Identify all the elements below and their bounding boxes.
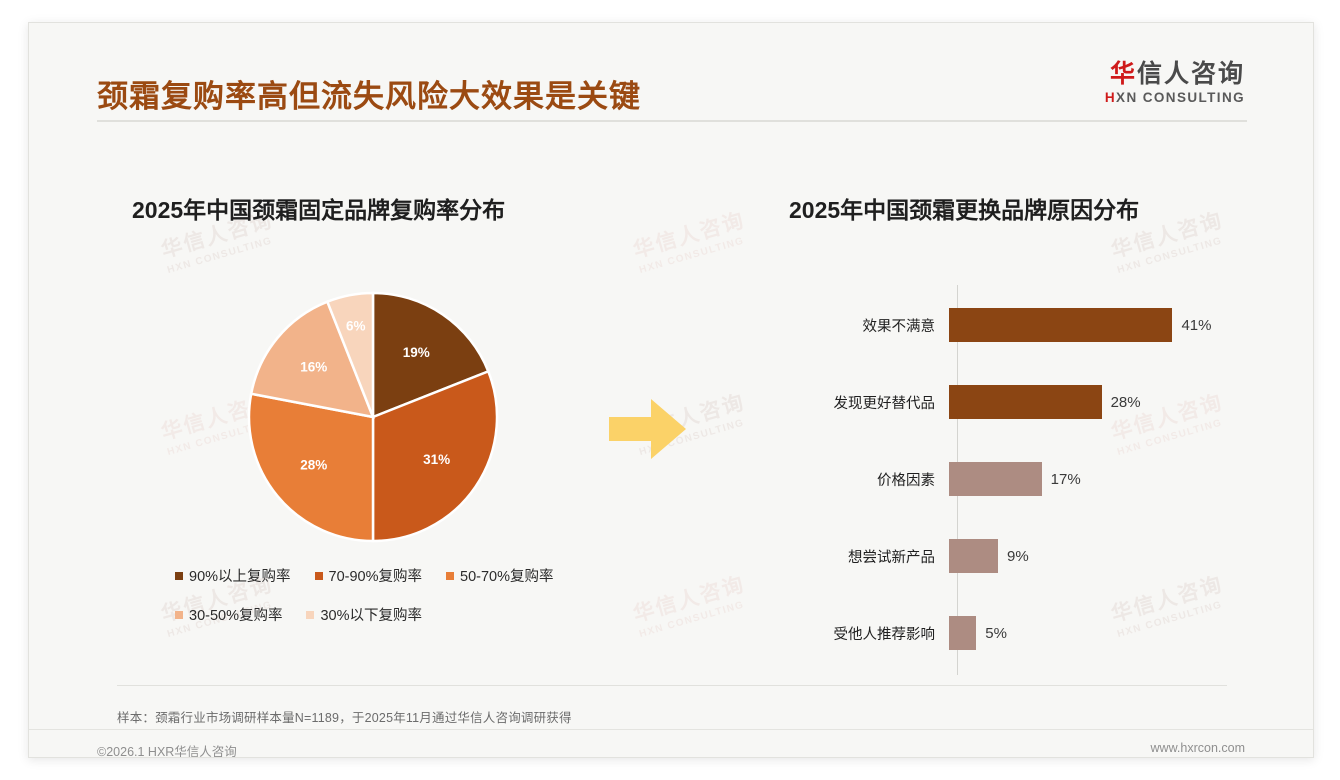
bar-value-label: 28% [1102, 394, 1141, 411]
logo-hua-char: 华 [1110, 60, 1137, 88]
logo-cn-rest: 信人咨询 [1137, 60, 1245, 88]
copyright-text: ©2026.1 HXR华信人咨询 [97, 741, 237, 758]
legend-label: 90%以上复购率 [189, 565, 291, 586]
bar-chart-title: 2025年中国颈霜更换品牌原因分布 [789, 191, 1139, 225]
legend-label: 30-50%复购率 [189, 604, 282, 625]
legend-item[interactable]: 70-90%复购率 [315, 565, 422, 586]
legend-item[interactable]: 90%以上复购率 [175, 565, 291, 586]
legend-label: 70-90%复购率 [329, 565, 422, 586]
bar-rect[interactable] [949, 616, 976, 650]
legend-swatch-icon [175, 611, 183, 619]
website-link[interactable]: www.hxrcon.com [1151, 741, 1245, 755]
bar-row: 发现更好替代品28% [809, 385, 1249, 419]
pie-slice-label: 6% [346, 318, 366, 333]
bar-rect[interactable] [949, 462, 1042, 496]
pie-chart-title: 2025年中国颈霜固定品牌复购率分布 [132, 191, 505, 225]
bar-category-label: 想尝试新产品 [809, 546, 949, 567]
footer-divider [29, 729, 1313, 730]
bar-category-label: 发现更好替代品 [809, 392, 949, 413]
legend-item[interactable]: 30%以下复购率 [306, 604, 422, 625]
source-note: 样本：颈霜行业市场调研样本量N=1189，于2025年11月通过华信人咨询调研获… [117, 707, 572, 726]
pie-chart: 19%31%28%16%6% [247, 291, 499, 543]
logo-english-text: HXN CONSULTING [1105, 90, 1245, 105]
bar-rect[interactable] [949, 385, 1102, 419]
logo-en-rest: XN CONSULTING [1116, 90, 1245, 105]
bar-category-label: 效果不满意 [809, 315, 949, 336]
legend-swatch-icon [446, 572, 454, 580]
bar-category-label: 受他人推荐影响 [809, 623, 949, 644]
pie-slice-label: 19% [403, 345, 430, 360]
pie-slice-label: 16% [300, 360, 327, 375]
flow-arrow-icon [609, 397, 687, 466]
legend-item[interactable]: 50-70%复购率 [446, 565, 553, 586]
bar-row: 价格因素17% [809, 462, 1249, 496]
pie-slice-label: 31% [423, 452, 450, 467]
page-title: 颈霜复购率高但流失风险大效果是关键 [97, 71, 641, 116]
bar-rect[interactable] [949, 539, 998, 573]
pie-chart-svg: 19%31%28%16%6% [247, 291, 499, 543]
pie-chart-legend: 90%以上复购率70-90%复购率50-70%复购率30-50%复购率30%以下… [175, 565, 595, 643]
watermark: 华信人咨询HXN CONSULTING [629, 204, 751, 276]
legend-label: 30%以下复购率 [320, 604, 422, 625]
watermark: 华信人咨询HXN CONSULTING [629, 568, 751, 640]
slide-canvas: 华信人咨询HXN CONSULTING华信人咨询HXN CONSULTING华信… [28, 22, 1314, 758]
logo-chinese-text: 华信人咨询 [1105, 61, 1245, 87]
legend-row: 30-50%复购率30%以下复购率 [175, 604, 595, 625]
legend-swatch-icon [306, 611, 314, 619]
bar-row: 受他人推荐影响5% [809, 616, 1249, 650]
bar-value-label: 5% [976, 625, 1007, 642]
bar-row: 想尝试新产品9% [809, 539, 1249, 573]
legend-row: 90%以上复购率70-90%复购率50-70%复购率 [175, 565, 595, 586]
legend-swatch-icon [315, 572, 323, 580]
bar-value-label: 17% [1042, 471, 1081, 488]
logo-h-char: H [1105, 90, 1116, 105]
legend-item[interactable]: 30-50%复购率 [175, 604, 282, 625]
bar-rect[interactable] [949, 308, 1172, 342]
bar-value-label: 9% [998, 548, 1029, 565]
company-logo: 华信人咨询 HXN CONSULTING [1105, 61, 1245, 105]
legend-label: 50-70%复购率 [460, 565, 553, 586]
pie-slice-label: 28% [300, 458, 327, 473]
bar-chart: 效果不满意41%发现更好替代品28%价格因素17%想尝试新产品9%受他人推荐影响… [809, 285, 1249, 675]
legend-swatch-icon [175, 572, 183, 580]
source-divider [117, 685, 1227, 686]
bar-category-label: 价格因素 [809, 469, 949, 490]
bar-row: 效果不满意41% [809, 308, 1249, 342]
header-divider [97, 120, 1247, 122]
bar-value-label: 41% [1172, 317, 1211, 334]
